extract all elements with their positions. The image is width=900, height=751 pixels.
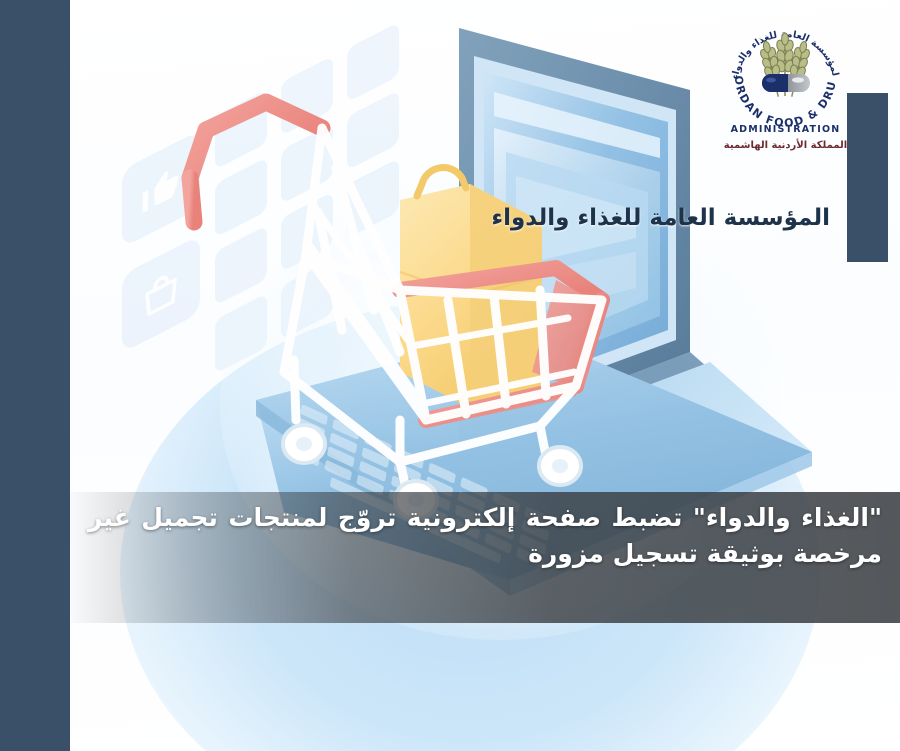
capsule-pill-icon (762, 74, 810, 92)
news-graphic: المؤسسة العامة للغذاء والدواء المؤسسة ال… (0, 0, 900, 751)
logo-kingdom-label: المملكة الأردنية الهاشمية (718, 140, 853, 151)
page-title: المؤسسة العامة للغذاء والدواء (70, 205, 830, 231)
jfda-logo: المؤسسة العامة للغذاء والدواء JORDAN FOO… (718, 16, 853, 161)
logo-administration-label: ADMINISTRATION (718, 124, 853, 135)
caption-text: "الغذاء والدواء" تضبط صفحة إلكترونية ترو… (70, 500, 882, 571)
right-accent-bar (847, 93, 888, 262)
logo-mark: المؤسسة العامة للغذاء والدواء JORDAN FOO… (718, 16, 853, 128)
left-accent-bar (0, 0, 70, 751)
